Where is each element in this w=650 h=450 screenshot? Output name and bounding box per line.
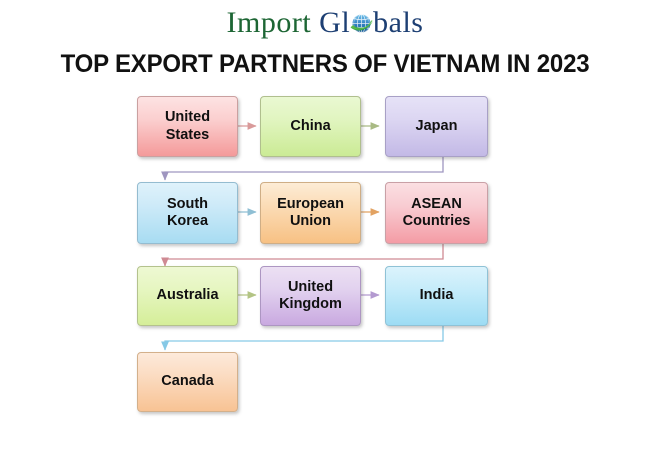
- edge-asean-to-australia: [165, 244, 443, 266]
- node-australia[interactable]: Australia: [137, 266, 238, 326]
- node-india[interactable]: India: [385, 266, 488, 326]
- node-united-kingdom[interactable]: United Kingdom: [260, 266, 361, 326]
- node-asean-countries[interactable]: ASEAN Countries: [385, 182, 488, 244]
- node-japan[interactable]: Japan: [385, 96, 488, 157]
- node-european-union[interactable]: European Union: [260, 182, 361, 244]
- node-south-korea[interactable]: South Korea: [137, 182, 238, 244]
- node-united-states[interactable]: United States: [137, 96, 238, 157]
- node-china[interactable]: China: [260, 96, 361, 157]
- export-partners-flowchart: United States China Japan South Korea Eu…: [0, 0, 650, 450]
- node-canada[interactable]: Canada: [137, 352, 238, 412]
- edge-india-to-canada: [165, 326, 443, 350]
- edge-japan-to-south-korea: [165, 157, 443, 180]
